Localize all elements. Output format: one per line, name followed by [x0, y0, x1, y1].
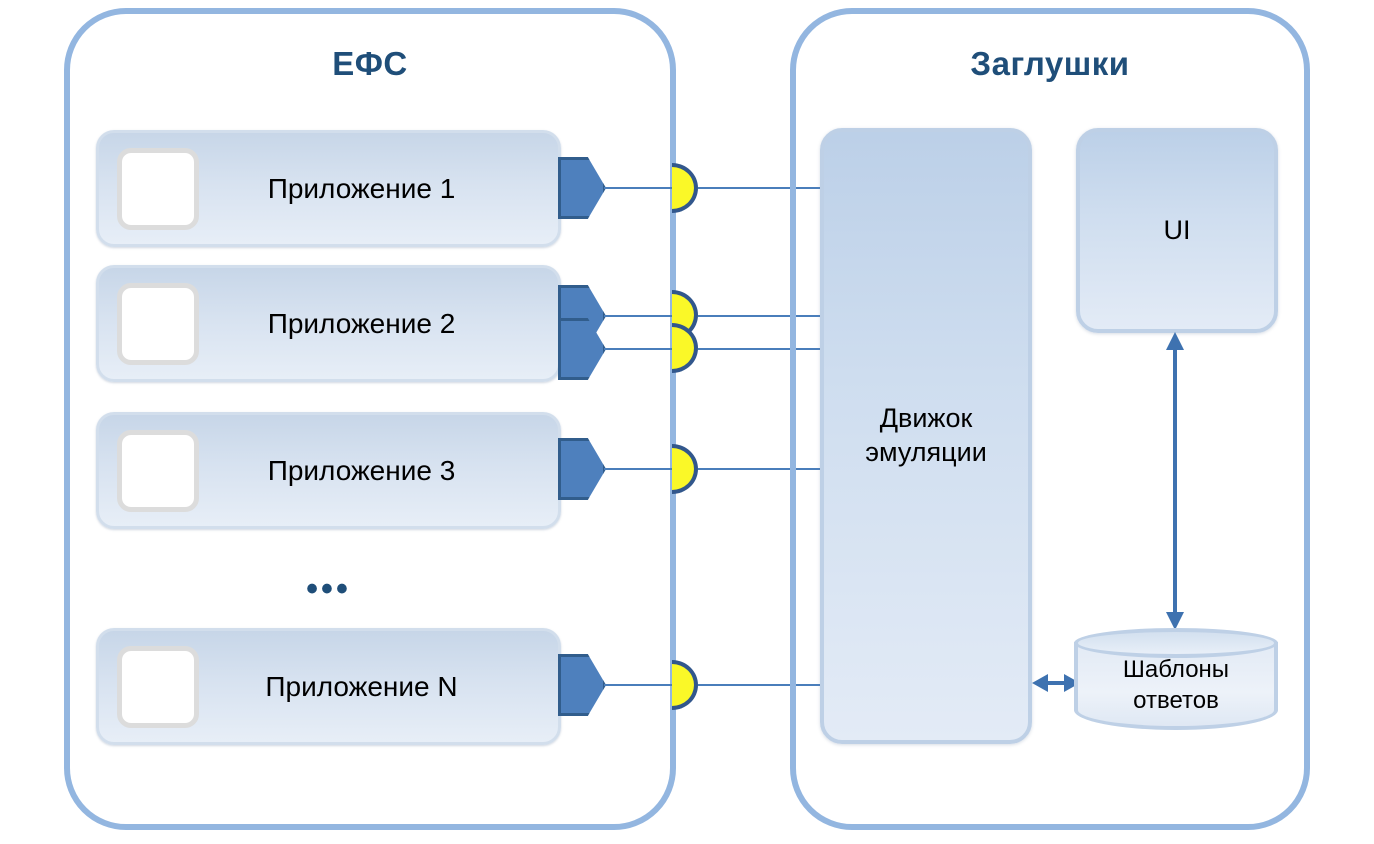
app-placeholder-icon	[117, 430, 199, 512]
ui-label: UI	[1164, 214, 1191, 248]
interface-semicircle-app3[interactable]	[672, 444, 698, 494]
application-label-1: Приложение 1	[199, 173, 558, 205]
database-label-line2: ответов	[1133, 687, 1219, 714]
interface-semicircle-app2-b[interactable]	[672, 323, 698, 373]
group-title-efs: ЕФС	[64, 45, 676, 83]
application-box-2[interactable]: Приложение 2	[96, 265, 561, 382]
connector-line-app2a-left	[604, 315, 672, 317]
database-label-line1: Шаблоны	[1123, 656, 1229, 683]
emulation-engine-label: Движок эмуляции	[865, 402, 987, 470]
application-box-1[interactable]: Приложение 1	[96, 130, 561, 247]
connector-line-appn-left	[604, 684, 672, 686]
interface-semicircle-appn[interactable]	[672, 660, 698, 710]
emulation-engine-label-line2: эмуляции	[865, 437, 987, 467]
app-placeholder-icon	[117, 148, 199, 230]
ellipsis-more-applications: •••	[96, 570, 561, 609]
group-title-stubs: Заглушки	[790, 45, 1310, 83]
connector-line-app1-left	[604, 187, 672, 189]
application-box-n[interactable]: Приложение N	[96, 628, 561, 745]
emulation-engine-box[interactable]: Движок эмуляции	[820, 128, 1032, 744]
application-label-3: Приложение 3	[199, 455, 558, 487]
database-label: Шаблоны ответов	[1074, 654, 1278, 716]
application-label-n: Приложение N	[199, 671, 558, 703]
diagram-canvas: ЕФС Приложение 1 Приложение 2 Приложение…	[0, 0, 1374, 844]
connector-line-app2b-left	[604, 348, 672, 350]
arrow-ui-to-database	[1163, 330, 1187, 632]
interface-semicircle-app1[interactable]	[672, 163, 698, 213]
ui-box[interactable]: UI	[1076, 128, 1278, 333]
application-box-3[interactable]: Приложение 3	[96, 412, 561, 529]
response-templates-database[interactable]: Шаблоны ответов	[1074, 628, 1278, 740]
emulation-engine-label-line1: Движок	[880, 403, 973, 433]
app-placeholder-icon	[117, 646, 199, 728]
connector-line-app3-left	[604, 468, 672, 470]
app-placeholder-icon	[117, 283, 199, 365]
application-label-2: Приложение 2	[199, 308, 558, 340]
